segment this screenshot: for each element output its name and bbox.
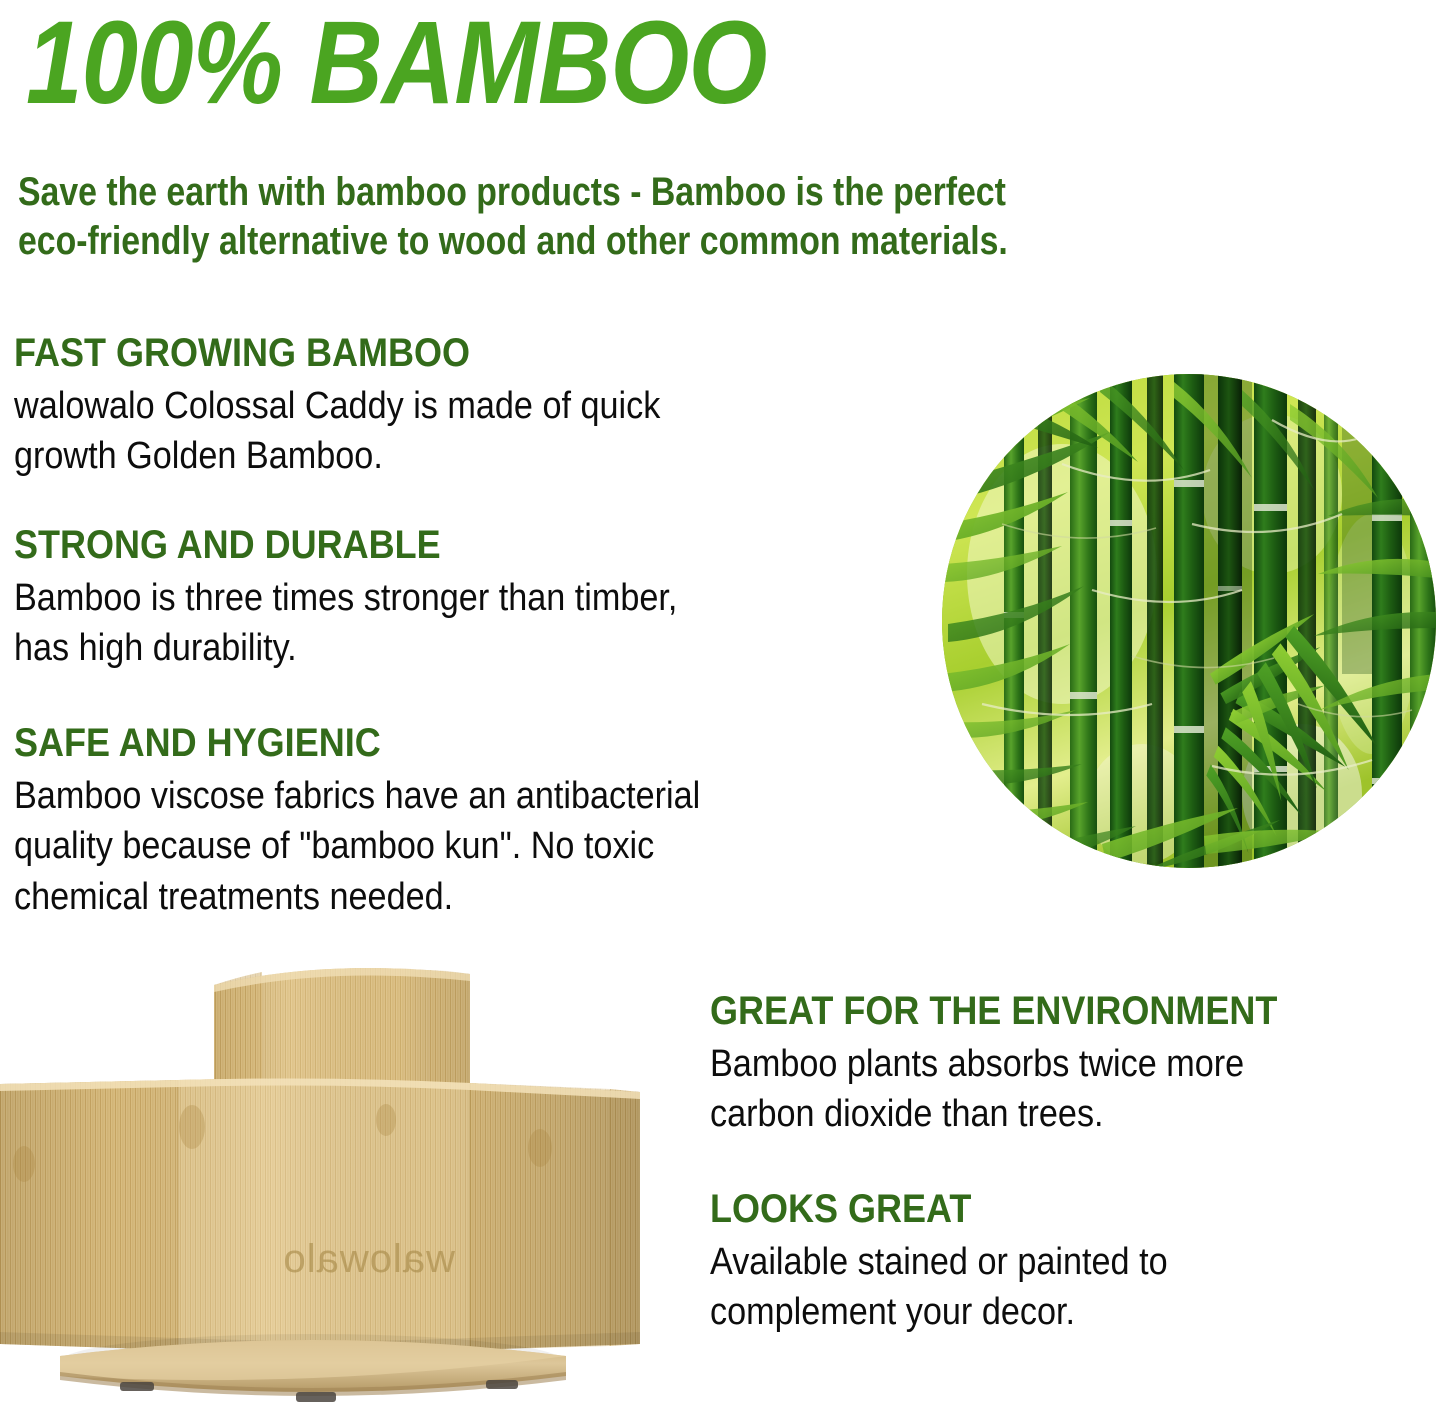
feature-fast-growing-bamboo: FAST GROWING BAMBOO walowalo Colossal Ca…	[14, 332, 732, 482]
feature-strong-and-durable: STRONG AND DURABLE Bamboo is three times…	[14, 524, 751, 674]
feature-heading-safe-hygienic: SAFE AND HYGIENIC	[14, 722, 700, 765]
feature-body-line: walowalo Colossal Caddy is made of quick	[14, 381, 660, 432]
feature-body-line: Bamboo viscose fabrics have an antibacte…	[14, 771, 700, 822]
feature-body-safe-hygienic: Bamboo viscose fabrics have an antibacte…	[14, 771, 700, 923]
feature-heading-strong-durable: STRONG AND DURABLE	[14, 524, 677, 567]
feature-body-line: Bamboo is three times stronger than timb…	[14, 573, 677, 624]
subtitle-line-1: Save the earth with bamboo products - Ba…	[18, 168, 1218, 217]
feature-body-line: Bamboo plants absorbs twice more	[710, 1039, 1277, 1090]
feature-body-looks-great: Available stained or painted to compleme…	[710, 1237, 1168, 1338]
feature-body-line: complement your decor.	[710, 1287, 1168, 1338]
feature-body-line: quality because of "bamboo kun". No toxi…	[14, 821, 700, 872]
subtitle-line-2: eco-friendly alternative to wood and oth…	[18, 217, 1218, 266]
feature-body-line: has high durability.	[14, 623, 677, 674]
feature-great-for-the-environment: GREAT FOR THE ENVIRONMENT Bamboo plants …	[710, 990, 1340, 1140]
feature-body-line: chemical treatments needed.	[14, 872, 700, 923]
feature-looks-great: LOOKS GREAT Available stained or painted…	[710, 1188, 1218, 1338]
feature-safe-and-hygienic: SAFE AND HYGIENIC Bamboo viscose fabrics…	[14, 722, 777, 922]
feature-body-line: carbon dioxide than trees.	[710, 1089, 1277, 1140]
page-title: 100% BAMBOO	[26, 4, 767, 122]
product-photo-bamboo-caddy: walowalo	[0, 952, 640, 1415]
subtitle: Save the earth with bamboo products - Ba…	[18, 168, 1218, 266]
bamboo-forest-photo	[942, 374, 1436, 868]
feature-body-fast-growing: walowalo Colossal Caddy is made of quick…	[14, 381, 660, 482]
feature-body-line: growth Golden Bamboo.	[14, 431, 660, 482]
feature-body-environment: Bamboo plants absorbs twice more carbon …	[710, 1039, 1277, 1140]
feature-heading-fast-growing: FAST GROWING BAMBOO	[14, 332, 660, 375]
feature-body-strong-durable: Bamboo is three times stronger than timb…	[14, 573, 677, 674]
feature-body-line: Available stained or painted to	[710, 1237, 1168, 1288]
svg-text:walowalo: walowalo	[282, 1237, 456, 1281]
feature-heading-looks-great: LOOKS GREAT	[710, 1188, 1168, 1231]
feature-heading-environment: GREAT FOR THE ENVIRONMENT	[710, 990, 1277, 1033]
